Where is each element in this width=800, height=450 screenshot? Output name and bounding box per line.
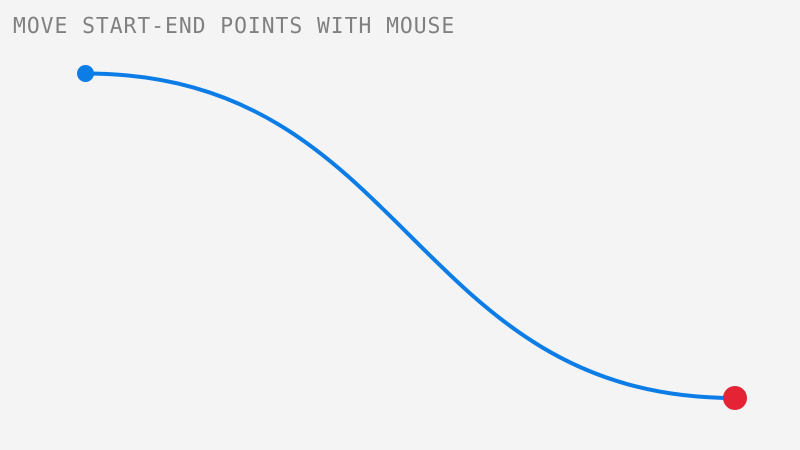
start-point-handle[interactable] xyxy=(77,65,94,82)
bezier-curve xyxy=(86,74,736,399)
app-root: MOVE START-END POINTS WITH MOUSE xyxy=(0,0,800,450)
bezier-canvas[interactable] xyxy=(0,0,800,450)
end-point-handle[interactable] xyxy=(723,386,747,410)
